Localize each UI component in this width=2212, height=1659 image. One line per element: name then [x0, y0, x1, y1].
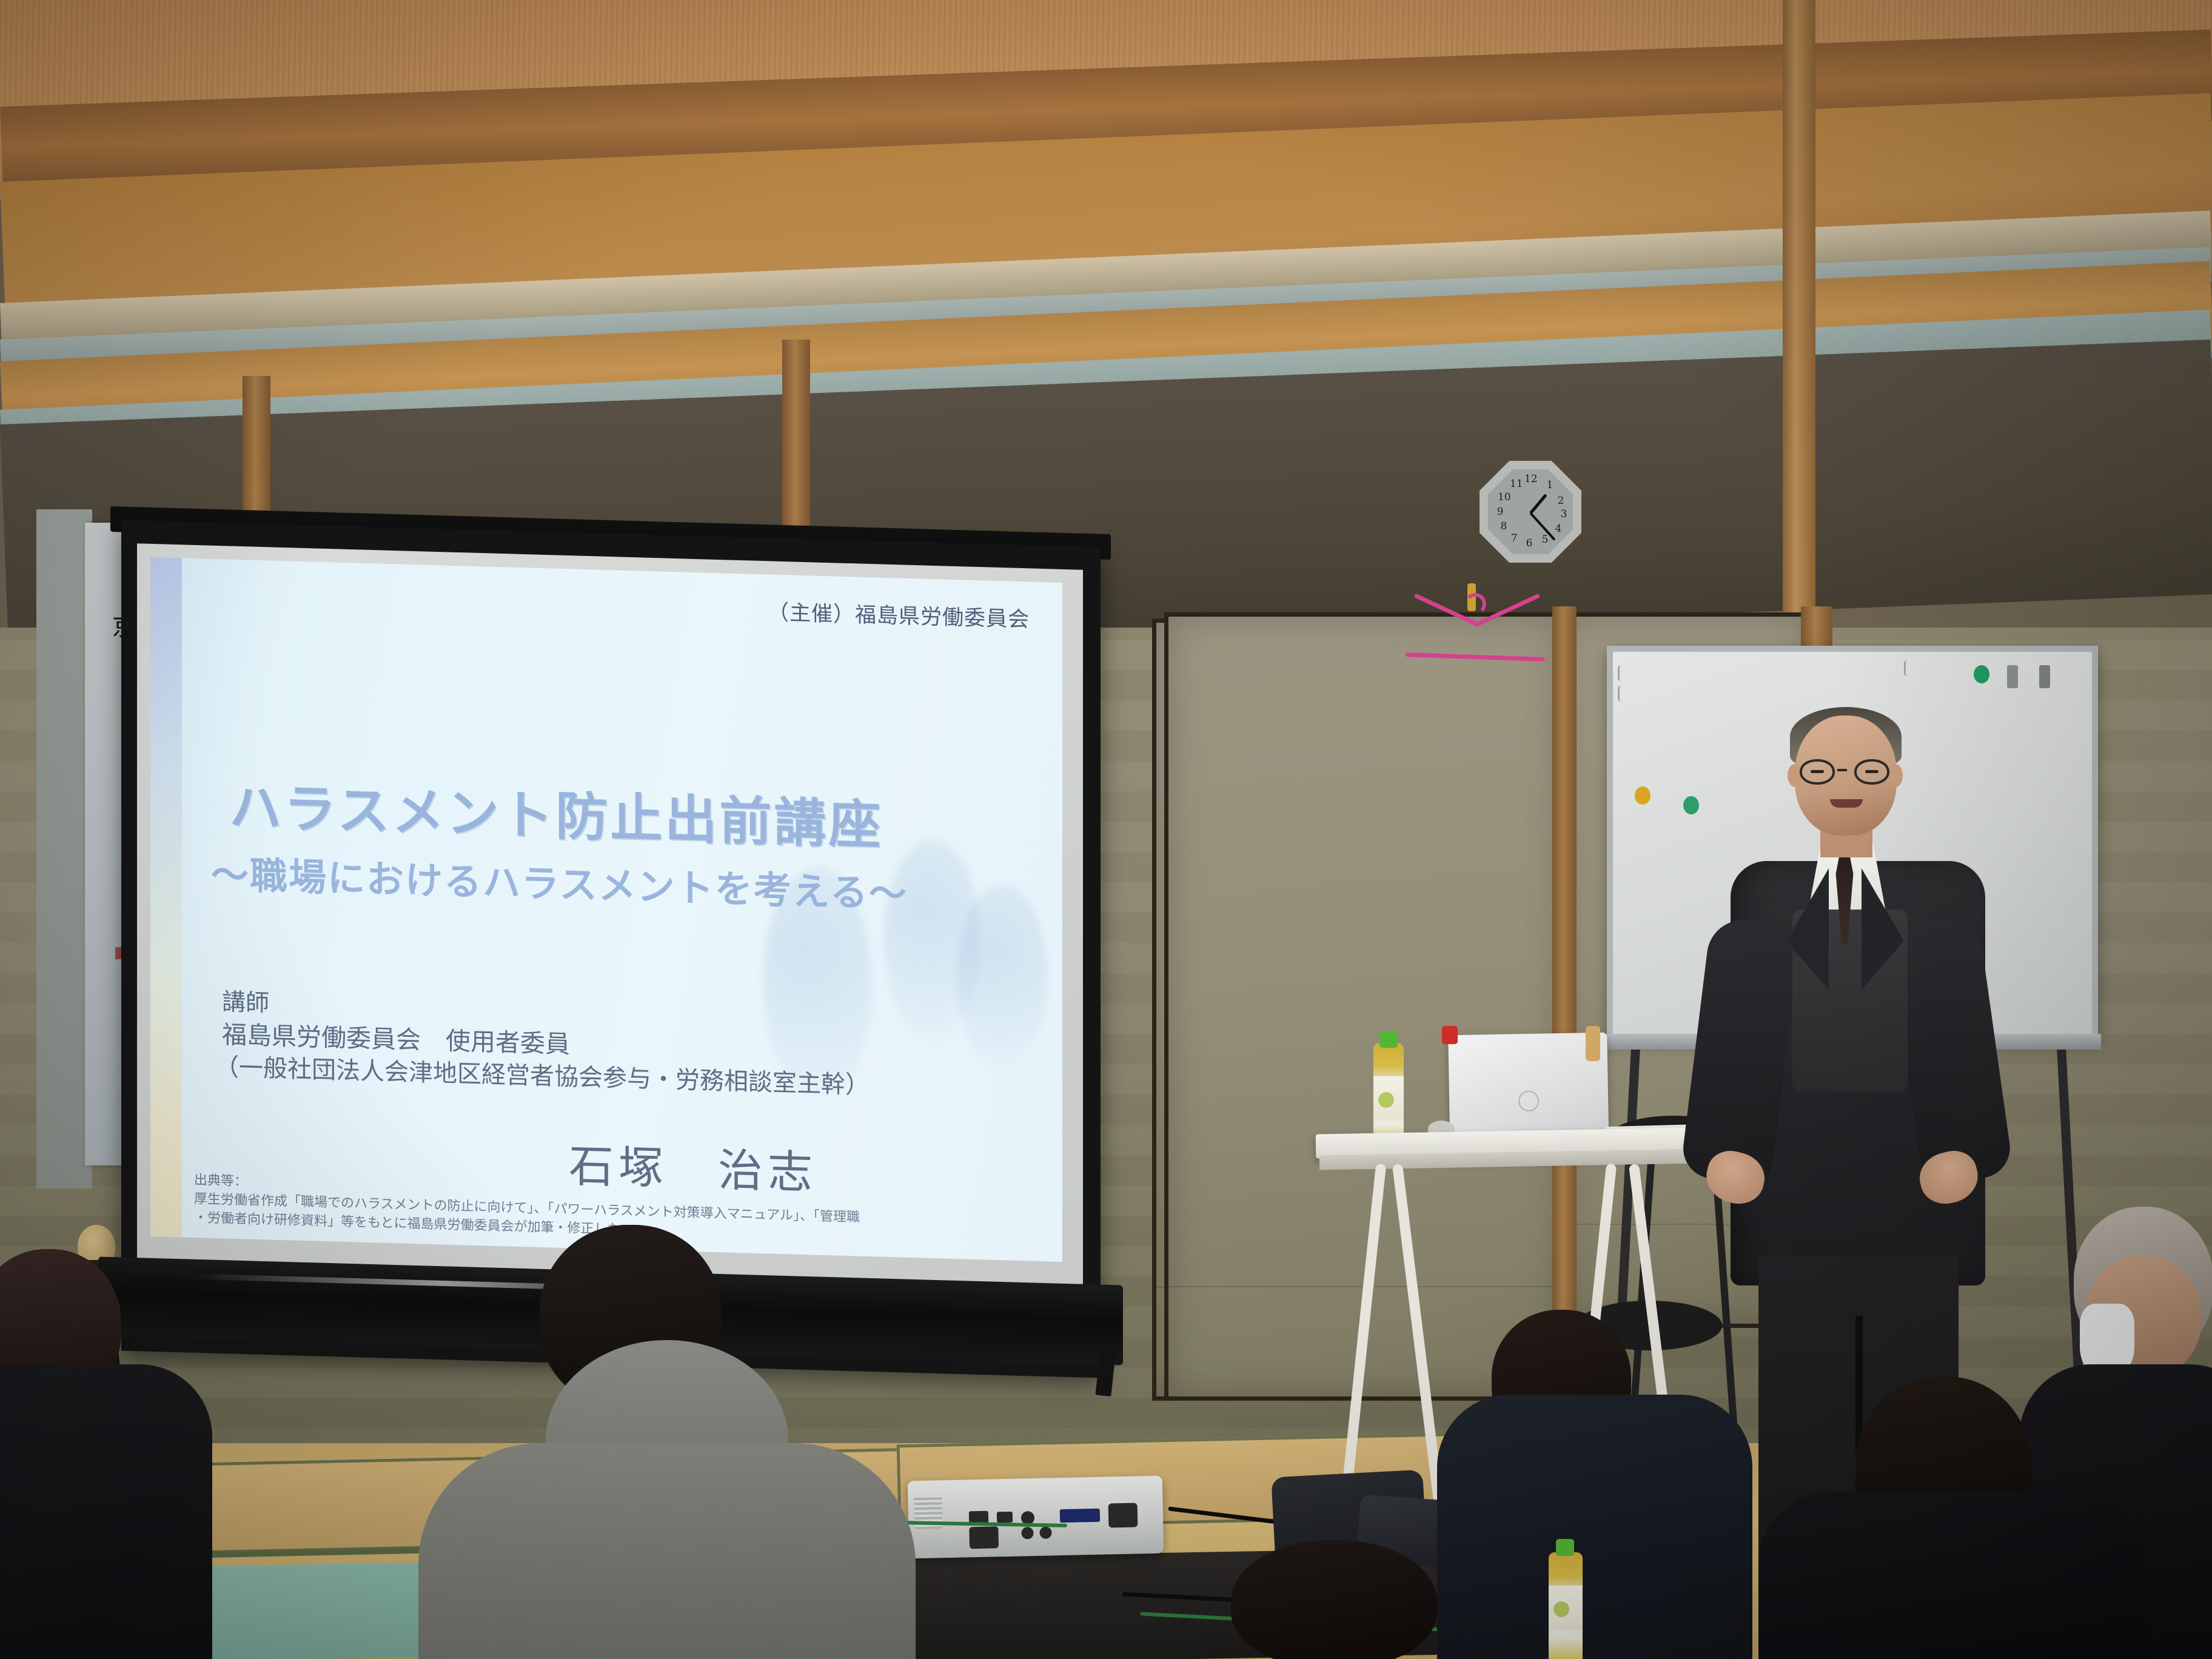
projector-port-4[interactable] — [1021, 1527, 1033, 1539]
clock-numeral-11: 11 — [1510, 478, 1522, 490]
projector-port-5[interactable] — [1039, 1526, 1051, 1538]
slide-title: ハラスメント防止出前講座 — [229, 765, 883, 859]
grey-magnet-clip-2[interactable] — [2039, 665, 2050, 688]
projector[interactable] — [908, 1476, 1164, 1559]
clock-face: 12 1 2 3 4 5 6 7 8 9 10 11 — [1488, 469, 1573, 554]
presenter-eye-right — [1865, 770, 1879, 773]
wooden-post-right — [1783, 0, 1815, 661]
whiteboard-clip-2 — [1618, 686, 1624, 702]
wall-clock: 12 1 2 3 4 5 6 7 8 9 10 11 — [1480, 461, 1581, 563]
audience-right-coat-body — [1437, 1395, 1752, 1659]
alcove-backing — [36, 509, 92, 1188]
projector-lens-housing — [969, 1526, 999, 1549]
clock-numeral-8: 8 — [1498, 520, 1510, 532]
whiteboard-clip-1 — [1618, 665, 1624, 681]
clock-numeral-6: 6 — [1523, 537, 1535, 549]
slide-left-accent-band — [150, 557, 182, 1237]
presenter-mouth — [1830, 799, 1863, 808]
clock-numeral-9: 9 — [1494, 506, 1506, 518]
tea-bottle-foreground-cap — [1556, 1539, 1574, 1556]
projector-power-connector[interactable] — [1108, 1503, 1138, 1527]
clock-numeral-2: 2 — [1555, 495, 1567, 507]
clock-numeral-10: 10 — [1498, 491, 1510, 503]
slide-lecturer-block: 講師 福島県労働委員会 使用者委員 （一般社団法人会津地区経営者協会参与・労務相… — [222, 987, 870, 1102]
slide-shadow-blob-3 — [957, 883, 1048, 1067]
green-floor-mat — [181, 1562, 438, 1659]
grey-magnet-clip-1[interactable] — [2007, 665, 2018, 688]
green-magnet-top[interactable] — [1974, 665, 1989, 683]
clock-numeral-7: 7 — [1508, 532, 1520, 545]
yellow-magnet[interactable] — [1635, 786, 1651, 805]
whiteboard-clip-3 — [1904, 660, 1910, 676]
clock-numeral-4: 4 — [1552, 523, 1564, 535]
clock-numeral-1: 1 — [1544, 479, 1556, 491]
clock-numeral-12: 12 — [1524, 473, 1537, 485]
hoodie-body — [418, 1443, 916, 1659]
projector-port-2[interactable] — [997, 1512, 1013, 1523]
tea-bottle-foreground[interactable] — [1549, 1552, 1583, 1659]
tea-bottle-cap — [1379, 1031, 1398, 1048]
presentation-room-photo: 京 12 1 2 3 4 5 6 7 8 9 10 11 — [0, 0, 2212, 1659]
red-binder-clip[interactable] — [1442, 1026, 1458, 1044]
audience-bottom-right-body — [1758, 1492, 2147, 1659]
presenter-eye-left — [1811, 770, 1824, 773]
tea-bottle-foreground-label — [1549, 1585, 1583, 1630]
clock-numeral-3: 3 — [1558, 508, 1570, 520]
presenter-ear-right — [1888, 764, 1903, 787]
tea-bottle-on-table[interactable] — [1373, 1043, 1404, 1147]
hanger-hook-icon — [1464, 593, 1486, 615]
audience-far-left-body — [0, 1364, 212, 1659]
dell-logo-icon — [1518, 1091, 1540, 1112]
projected-slide: （主催）福島県労働委員会 ハラスメント防止出前講座 〜職場におけるハラスメントを… — [150, 557, 1062, 1262]
tea-bottle-label — [1373, 1076, 1404, 1121]
glasses-bridge — [1837, 769, 1847, 771]
audience-bottom-center-head — [1231, 1540, 1437, 1659]
fusuma-divider-post — [1552, 606, 1577, 1413]
projector-vga-port[interactable] — [1060, 1509, 1100, 1523]
clock-hour-hand — [1529, 494, 1547, 514]
slide-organizer: （主催）福島県労働委員会 — [768, 595, 1030, 633]
tan-binder-clip[interactable] — [1586, 1026, 1600, 1061]
